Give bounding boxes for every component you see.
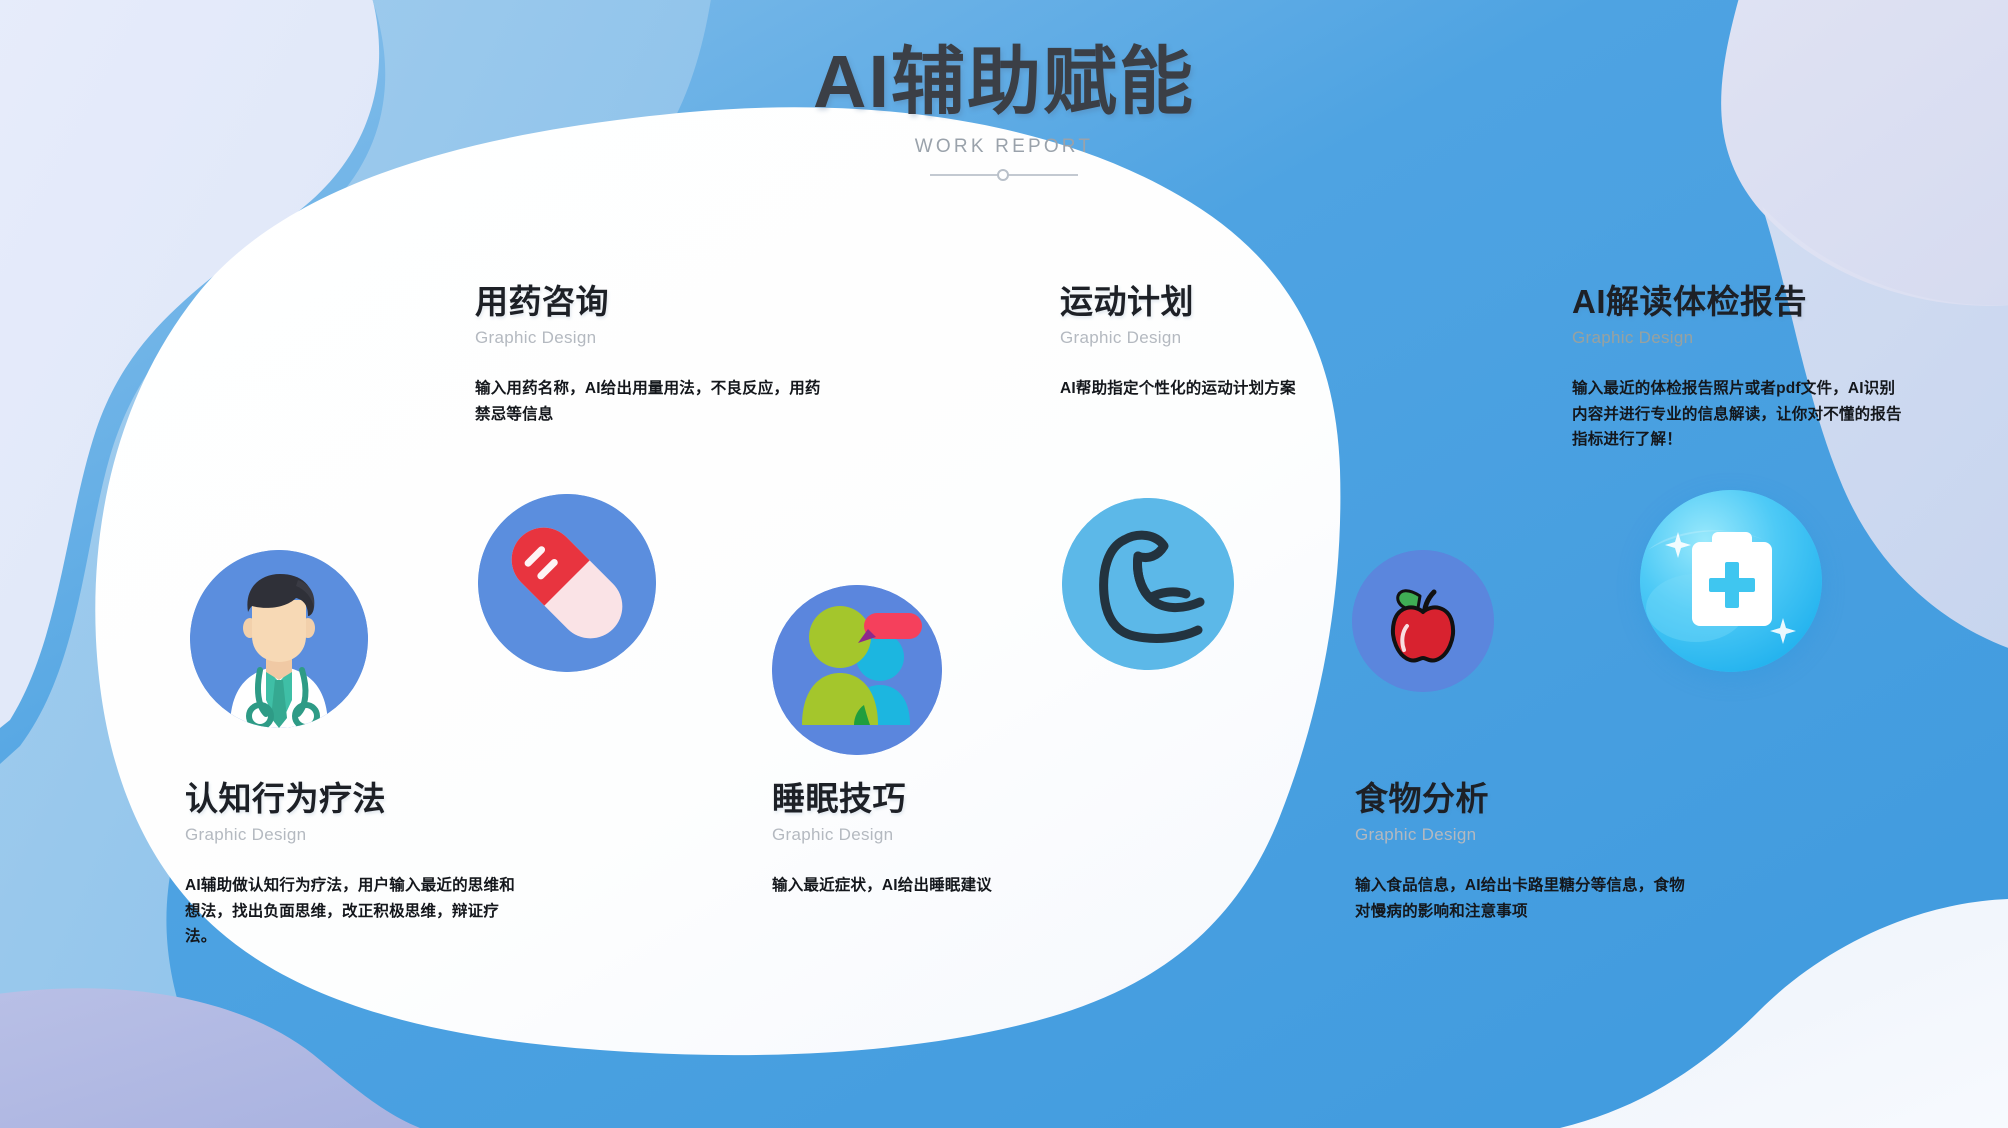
feature-body: 输入用药名称，AI给出用量用法，不良反应，用药禁忌等信息 <box>475 376 825 427</box>
title-divider <box>930 168 1078 182</box>
feature-subtitle: Graphic Design <box>185 825 515 845</box>
feature-exercise-plan: 运动计划 Graphic Design AI帮助指定个性化的运动计划方案 <box>1060 283 1360 402</box>
title-block: AI辅助赋能 WORK REPORT <box>0 42 2008 182</box>
feature-body: 输入最近症状，AI给出睡眠建议 <box>772 873 1072 899</box>
feature-food-analysis: 食物分析 Graphic Design 输入食品信息，AI给出卡路里糖分等信息，… <box>1355 780 1695 924</box>
feature-subtitle: Graphic Design <box>1060 328 1360 348</box>
feature-subtitle: Graphic Design <box>1572 328 1902 348</box>
feature-title: AI解读体检报告 <box>1572 283 1902 322</box>
feature-title: 睡眠技巧 <box>772 780 1072 819</box>
divider-dot <box>997 169 1009 181</box>
medical-clipboard-icon[interactable] <box>1640 490 1822 672</box>
page-title: AI辅助赋能 <box>0 42 2008 122</box>
apple-icon[interactable] <box>1352 550 1494 692</box>
pill-icon[interactable] <box>478 494 656 672</box>
people-chat-icon[interactable] <box>772 585 942 755</box>
feature-subtitle: Graphic Design <box>772 825 1072 845</box>
feature-body: AI帮助指定个性化的运动计划方案 <box>1060 376 1360 402</box>
page-subtitle: WORK REPORT <box>0 136 2008 158</box>
feature-body: 输入食品信息，AI给出卡路里糖分等信息，食物对慢病的影响和注意事项 <box>1355 873 1695 924</box>
muscle-arm-icon[interactable] <box>1062 498 1234 670</box>
feature-title: 食物分析 <box>1355 780 1695 819</box>
feature-title: 认知行为疗法 <box>185 780 515 819</box>
feature-body: AI辅助做认知行为疗法，用户输入最近的思维和想法，找出负面思维，改正积极思维，辩… <box>185 873 515 950</box>
doctor-avatar-icon[interactable] <box>190 550 368 728</box>
feature-title: 运动计划 <box>1060 283 1360 322</box>
feature-title: 用药咨询 <box>475 283 825 322</box>
slide-canvas: AI辅助赋能 WORK REPORT <box>0 0 2008 1128</box>
feature-subtitle: Graphic Design <box>475 328 825 348</box>
feature-medication-consult: 用药咨询 Graphic Design 输入用药名称，AI给出用量用法，不良反应… <box>475 283 825 427</box>
feature-body: 输入最近的体检报告照片或者pdf文件，AI识别内容并进行专业的信息解读，让你对不… <box>1572 376 1902 453</box>
feature-sleep-skills: 睡眠技巧 Graphic Design 输入最近症状，AI给出睡眠建议 <box>772 780 1072 899</box>
feature-cognitive-behavior-therapy: 认知行为疗法 Graphic Design AI辅助做认知行为疗法，用户输入最近… <box>185 780 515 950</box>
feature-ai-health-report: AI解读体检报告 Graphic Design 输入最近的体检报告照片或者pdf… <box>1572 283 1902 453</box>
feature-subtitle: Graphic Design <box>1355 825 1695 845</box>
